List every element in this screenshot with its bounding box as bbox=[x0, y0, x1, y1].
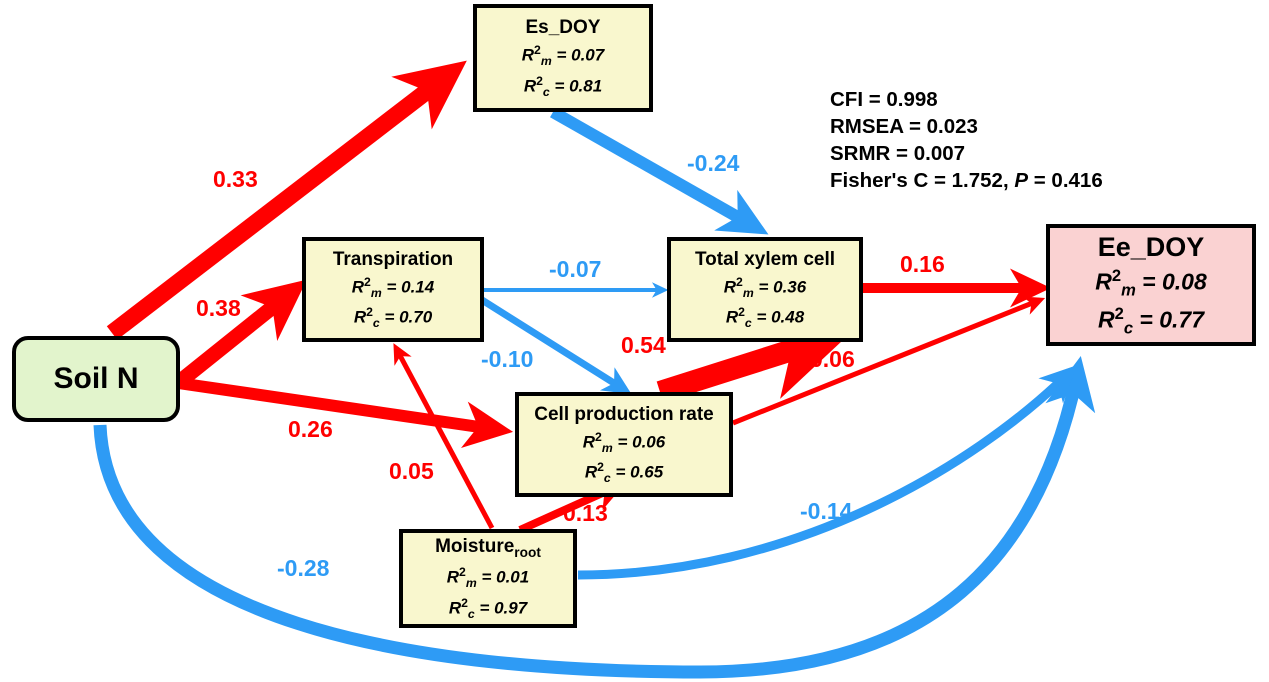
coef-soiln-esdoy: 0.33 bbox=[213, 168, 258, 191]
node-total-xylem-cell-r2c: R2c = 0.48 bbox=[726, 306, 804, 329]
coef-transpiration-totalxylem: -0.07 bbox=[549, 258, 601, 281]
fit-p-symbol: P bbox=[1014, 169, 1028, 192]
node-cell-production-rate-r2m: R2m = 0.06 bbox=[583, 431, 665, 454]
node-transpiration-r2m: R2m = 0.14 bbox=[352, 276, 434, 299]
fit-srmr: SRMR = 0.007 bbox=[830, 140, 1103, 167]
fit-p-value: = 0.416 bbox=[1034, 169, 1103, 192]
coef-soiln-transpiration: 0.38 bbox=[196, 297, 241, 320]
node-soil-n-label: Soil N bbox=[53, 364, 138, 394]
node-transpiration-r2c: R2c = 0.70 bbox=[354, 306, 432, 329]
node-cell-production-rate[interactable]: Cell production rate R2m = 0.06 R2c = 0.… bbox=[515, 392, 733, 497]
fit-statistics: CFI = 0.998 RMSEA = 0.023 SRMR = 0.007 F… bbox=[830, 86, 1103, 194]
node-moisture-root-subscript: root bbox=[514, 545, 541, 560]
node-es-doy-r2c: R2c = 0.81 bbox=[524, 75, 602, 98]
node-transpiration[interactable]: Transpiration R2m = 0.14 R2c = 0.70 bbox=[302, 237, 484, 342]
node-total-xylem-cell-r2m: R2m = 0.36 bbox=[724, 276, 806, 299]
node-soil-n[interactable]: Soil N bbox=[12, 336, 180, 422]
coef-cellproduction-eedoy: 0.06 bbox=[810, 348, 855, 371]
path-transpiration-to-cellproduction bbox=[482, 300, 625, 390]
coef-cellproduction-totalxylem: 0.54 bbox=[621, 334, 666, 357]
node-total-xylem-cell-label: Total xylem cell bbox=[695, 250, 835, 269]
node-es-doy[interactable]: Es_DOY R2m = 0.07 R2c = 0.81 bbox=[473, 4, 653, 112]
path-cellproduction-to-totalxylem bbox=[660, 338, 830, 392]
coef-transpiration-cellproduction: -0.10 bbox=[481, 348, 533, 371]
path-soiln-to-cellproduction bbox=[178, 383, 500, 430]
node-es-doy-r2m: R2m = 0.07 bbox=[522, 44, 604, 67]
node-moisture-root[interactable]: Moistureroot R2m = 0.01 R2c = 0.97 bbox=[399, 529, 577, 628]
fit-fisher-prefix: Fisher's C = 1.752, bbox=[830, 169, 1009, 192]
coef-esdoy-totalxylem: -0.24 bbox=[687, 152, 739, 175]
coef-moistureroot-transpiration: 0.05 bbox=[389, 460, 434, 483]
fit-fisher-c: Fisher's C = 1.752, P = 0.416 bbox=[830, 167, 1103, 194]
node-ee-doy[interactable]: Ee_DOY R2m = 0.08 R2c = 0.77 bbox=[1046, 224, 1256, 346]
coef-moistureroot-eedoy: -0.14 bbox=[800, 500, 852, 523]
node-es-doy-label: Es_DOY bbox=[526, 18, 601, 37]
node-cell-production-rate-r2c: R2c = 0.65 bbox=[585, 461, 663, 484]
fit-cfi: CFI = 0.998 bbox=[830, 86, 1103, 113]
coef-soiln-cellproduction: 0.26 bbox=[288, 418, 333, 441]
node-moisture-root-r2c: R2c = 0.97 bbox=[449, 597, 527, 620]
node-moisture-root-label: Moistureroot bbox=[435, 537, 541, 559]
path-moistureroot-to-transpiration bbox=[396, 348, 492, 528]
coef-moistureroot-cellproduction: 0.13 bbox=[563, 502, 608, 525]
node-ee-doy-r2m: R2m = 0.08 bbox=[1095, 268, 1207, 299]
node-ee-doy-r2c: R2c = 0.77 bbox=[1098, 306, 1204, 337]
sem-path-diagram: Soil N Es_DOY R2m = 0.07 R2c = 0.81 Tran… bbox=[0, 0, 1269, 682]
node-transpiration-label: Transpiration bbox=[333, 250, 453, 269]
fit-rmsea: RMSEA = 0.023 bbox=[830, 113, 1103, 140]
node-cell-production-rate-label: Cell production rate bbox=[534, 405, 713, 424]
coef-soiln-eedoy: -0.28 bbox=[277, 557, 329, 580]
node-moisture-root-r2m: R2m = 0.01 bbox=[447, 566, 529, 589]
node-ee-doy-label: Ee_DOY bbox=[1098, 234, 1205, 261]
coef-totalxylem-eedoy: 0.16 bbox=[900, 253, 945, 276]
node-total-xylem-cell[interactable]: Total xylem cell R2m = 0.36 R2c = 0.48 bbox=[667, 237, 863, 342]
